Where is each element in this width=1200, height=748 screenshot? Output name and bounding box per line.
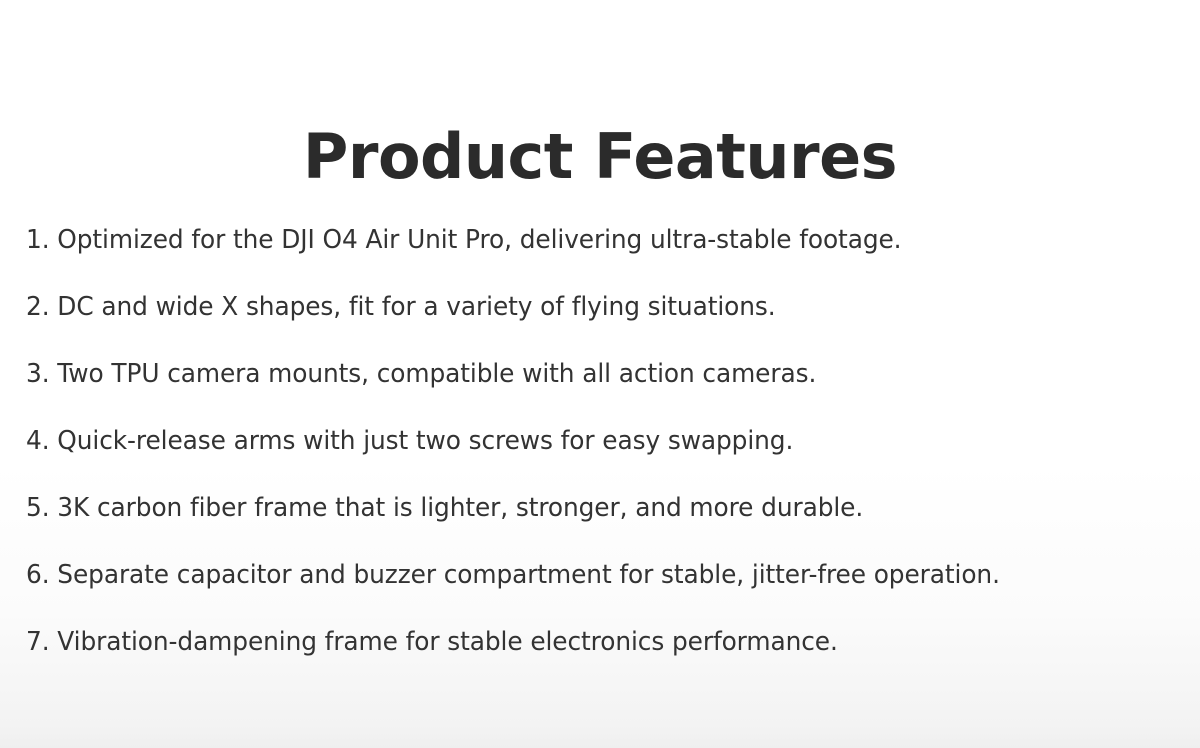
list-item-label: Vibration-dampening frame for stable ele… (57, 627, 837, 657)
list-item-number: 4. (26, 426, 50, 456)
list-item-label: Separate capacitor and buzzer compartmen… (57, 560, 1000, 590)
list-item-number: 7. (26, 627, 50, 657)
product-features-slide: Product Features 1. Optimized for the DJ… (0, 0, 1200, 748)
page-title: Product Features (0, 124, 1200, 189)
list-item-label: 3K carbon fiber frame that is lighter, s… (57, 493, 863, 523)
list-item: 1. Optimized for the DJI O4 Air Unit Pro… (26, 215, 1134, 282)
list-item-number: 1. (26, 225, 50, 255)
list-item: 5. 3K carbon fiber frame that is lighter… (26, 483, 1134, 550)
list-item-label: Optimized for the DJI O4 Air Unit Pro, d… (57, 225, 901, 255)
list-item-number: 3. (26, 359, 50, 389)
list-item: 3. Two TPU camera mounts, compatible wit… (26, 349, 1134, 416)
list-item-number: 5. (26, 493, 50, 523)
list-item: 4. Quick-release arms with just two scre… (26, 416, 1134, 483)
list-item-label: DC and wide X shapes, fit for a variety … (57, 292, 775, 322)
list-item-label: Quick-release arms with just two screws … (57, 426, 793, 456)
list-item-number: 6. (26, 560, 50, 590)
list-item: 2. DC and wide X shapes, fit for a varie… (26, 282, 1134, 349)
list-item-number: 2. (26, 292, 50, 322)
feature-list: 1. Optimized for the DJI O4 Air Unit Pro… (26, 215, 1186, 684)
list-item: 7. Vibration-dampening frame for stable … (26, 617, 1134, 684)
list-item: 6. Separate capacitor and buzzer compart… (26, 550, 1134, 617)
list-item-label: Two TPU camera mounts, compatible with a… (57, 359, 816, 389)
